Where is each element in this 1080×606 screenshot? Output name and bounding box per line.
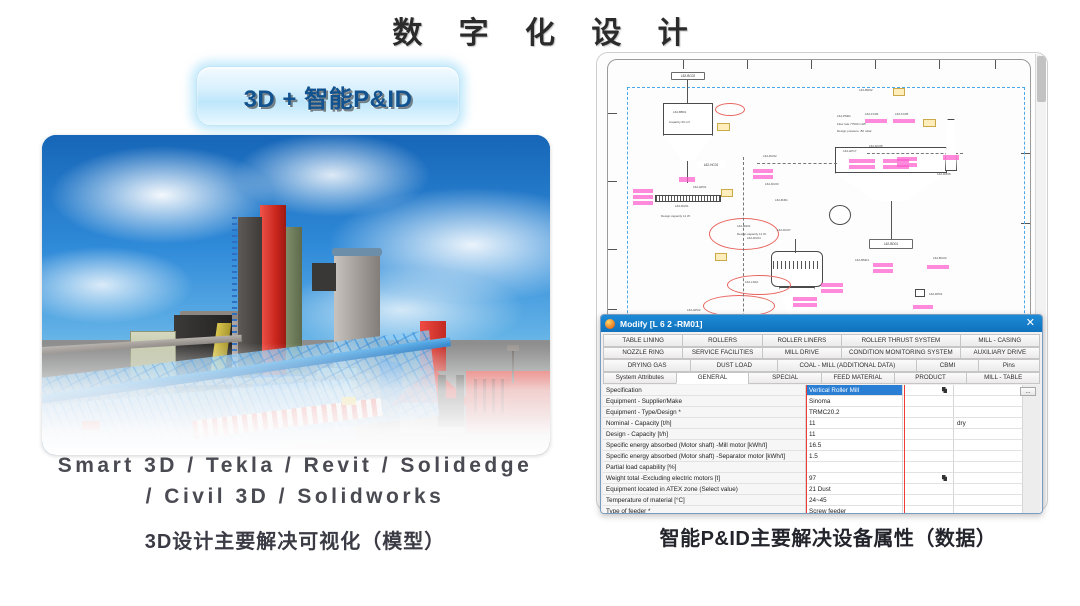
grid-cell-d[interactable]	[954, 429, 1023, 440]
pid-scrollbar-thumb[interactable]	[1037, 56, 1046, 102]
close-icon[interactable]: ✕	[1023, 318, 1038, 329]
tab-system-attributes[interactable]: System Attributes	[603, 372, 676, 385]
grid-tick-left-3	[608, 249, 617, 250]
note-flag-4[interactable]	[893, 88, 905, 96]
tab-nozzle-ring[interactable]: NOZZLE RING	[603, 347, 682, 360]
grid-tick-top-5	[939, 60, 940, 69]
grid-column-d[interactable]: dry	[954, 385, 1023, 514]
attribute-grid[interactable]: Specification Equipment - Supplier/Make …	[603, 385, 1040, 514]
grid-tick-left-2	[608, 181, 617, 182]
tab-service-facilities[interactable]: SERVICE FACILITIES	[682, 347, 761, 360]
microtext-bb01: L62-BB01	[673, 111, 686, 115]
line-sep-down	[891, 201, 892, 239]
attribute-value[interactable]: TRMC20.2	[806, 407, 903, 418]
link-icon	[942, 387, 947, 393]
tab-auxiliary-drive[interactable]: AUXILIARY DRIVE	[960, 347, 1040, 360]
link-icon	[942, 475, 947, 481]
tab-row-3: DRYING GAS DUST LOAD COAL - MILL (ADDITI…	[603, 359, 1040, 372]
tab-mill-drive[interactable]: MILL DRIVE	[762, 347, 841, 360]
grid-cell-c[interactable]	[903, 429, 954, 440]
pid-tagblock-11	[753, 169, 773, 173]
app-logo-icon	[605, 319, 615, 329]
attribute-value[interactable]: 24~45	[806, 495, 903, 506]
grid-column-e	[1023, 385, 1040, 514]
note-flag-2[interactable]	[721, 189, 733, 197]
grid-cell-d[interactable]	[954, 462, 1023, 473]
grid-cell-c[interactable]	[903, 418, 954, 429]
tab-pins[interactable]: Pins	[978, 359, 1040, 372]
tab-product[interactable]: PRODUCT	[894, 372, 967, 385]
tab-roller-thrust-system[interactable]: ROLLER THRUST SYSTEM	[841, 334, 960, 347]
tab-mill-casing[interactable]: MILL - CASING	[960, 334, 1040, 347]
badge-label: 3D + 智能P&ID	[244, 79, 413, 114]
badge-3d-smart-pid: 3D + 智能P&ID	[196, 66, 460, 126]
microtext-pm01-data2: Design pressure -80 mbar	[837, 130, 872, 134]
software-list-line-1: Smart 3D / Tekla / Revit / Solidedge	[0, 450, 590, 481]
microtext-hp01: L62-HP01	[693, 186, 707, 190]
tab-feed-material[interactable]: FEED MATERIAL	[821, 372, 894, 385]
tab-general[interactable]: GENERAL	[676, 372, 749, 385]
tab-special[interactable]: SPECIAL	[748, 372, 821, 385]
pid-tagblock-23	[873, 263, 893, 267]
microtext-hp17: L62-HP17	[843, 150, 857, 154]
attribute-label: Equipment - Supplier/Make	[603, 396, 806, 407]
pid-tagblock-25	[927, 265, 949, 269]
microtext-du03: L62-DU03	[765, 183, 779, 187]
equipment-fan-pm01	[829, 205, 851, 225]
tab-rows: TABLE LINING ROLLERS ROLLER LINERS ROLLE…	[603, 334, 1040, 384]
pid-tagblock-1	[679, 177, 695, 182]
slide-root: 数 字 化 设 计 3D + 智能P&ID	[0, 0, 1080, 606]
microtext-bd02: L62-BD02	[859, 89, 873, 93]
pid-tagblock-3	[633, 195, 653, 199]
attribute-label: Temperature of material [°C]	[603, 495, 806, 506]
grid-cell-d[interactable]	[954, 473, 1023, 484]
attribute-value[interactable]: 11	[806, 429, 903, 440]
microtext-capacity: Design capacity 11 t/h	[661, 215, 690, 219]
microtext-bb01-desc: Capacity 60 m3	[669, 121, 690, 125]
mill-stack	[795, 239, 796, 253]
note-flag-3[interactable]	[715, 253, 727, 261]
microtext-du04: L62-DU04	[747, 237, 761, 241]
tab-table-lining[interactable]: TABLE LINING	[603, 334, 682, 347]
tag-l62-bc02[interactable]: L62-BC02	[671, 72, 705, 80]
tab-row-1: TABLE LINING ROLLERS ROLLER LINERS ROLLE…	[603, 334, 1040, 347]
pid-tagblock-14	[793, 303, 817, 307]
grid-cell-d[interactable]	[954, 396, 1023, 407]
grid-cell-d[interactable]	[954, 484, 1023, 495]
pid-tagblock-10	[893, 119, 915, 123]
pid-tagblock-26	[913, 305, 933, 309]
attribute-value[interactable]: Screw feeder	[806, 506, 903, 514]
dialog-body: TABLE LINING ROLLERS ROLLER LINERS ROLLE…	[601, 332, 1042, 514]
grid-column-labels: Specification Equipment - Supplier/Make …	[603, 385, 806, 514]
grid-cell-c[interactable]	[903, 385, 954, 396]
pid-tagblock-4	[633, 201, 653, 205]
pid-tagblock-2	[633, 189, 653, 193]
grid-cell-c[interactable]	[903, 451, 954, 462]
pid-tagblock-22	[943, 155, 959, 160]
grid-cell-c[interactable]	[903, 407, 954, 418]
attribute-label: Equipment - Type/Design *	[603, 407, 806, 418]
grid-tick-top-2	[747, 60, 748, 69]
silo-right-cap	[332, 248, 382, 256]
microtext-du07: L62-DU07	[777, 229, 791, 233]
attribute-value[interactable]: Sinoma	[806, 396, 903, 407]
revision-cloud-1	[715, 103, 745, 116]
microtext-fc06: L62-FC06	[865, 113, 878, 117]
attribute-label: Weight total -Excluding electric motors …	[603, 473, 806, 484]
microtext-du05: L62-DU05	[869, 145, 883, 149]
grid-cell-c[interactable]	[903, 484, 954, 495]
grid-tick-top-1	[683, 60, 684, 69]
silo-right-port	[312, 263, 336, 291]
pid-tagblock-16	[821, 289, 843, 293]
attribute-label: Specific energy absorbed (Motor shaft) -…	[603, 451, 806, 462]
grid-tick-top-3	[811, 60, 812, 69]
grid-cell-d[interactable]	[954, 451, 1023, 462]
pid-tagblock-21	[897, 163, 917, 167]
tab-roller-liners[interactable]: ROLLER LINERS	[762, 334, 841, 347]
attribute-label: Equipment located in ATEX zone (Select v…	[603, 484, 806, 495]
tab-condition-monitoring-system[interactable]: CONDITION MONITORING SYSTEM	[841, 347, 960, 360]
dialog-title-bar: Modify [L 6 2 -RM01] ✕	[601, 315, 1042, 332]
revision-cloud-4	[727, 275, 791, 295]
software-list-line-2: / Civil 3D / Solidworks	[0, 481, 590, 512]
software-list: Smart 3D / Tekla / Revit / Solidedge / C…	[0, 450, 590, 512]
attribute-label: Type of feeder *	[603, 506, 806, 514]
tab-row-4: System Attributes GENERAL SPECIAL FEED M…	[603, 372, 1040, 385]
grid-cell-c[interactable]	[903, 506, 954, 514]
grid-cell-c[interactable]	[903, 440, 954, 451]
equipment-valve-right	[915, 289, 925, 297]
grid-cell-d[interactable]	[954, 495, 1023, 506]
pid-tagblock-15	[821, 283, 843, 287]
tab-drying-gas[interactable]: DRYING GAS	[603, 359, 690, 372]
tab-rollers[interactable]: ROLLERS	[682, 334, 761, 347]
pid-tagblock-13	[793, 297, 817, 301]
grid-cell-c[interactable]	[903, 495, 954, 506]
pid-tagblock-7	[849, 165, 875, 169]
attribute-value[interactable]: 11	[806, 418, 903, 429]
attribute-value[interactable]: 1.5	[806, 451, 903, 462]
attribute-label: Specification	[603, 385, 806, 396]
plant-3d-render	[42, 135, 550, 455]
grid-cell-c[interactable]	[903, 462, 954, 473]
microtext-ls02: L62-LS02	[745, 281, 758, 285]
left-panel: 3D + 智能P&ID	[0, 55, 590, 606]
note-flag-5[interactable]	[923, 119, 936, 127]
attribute-value[interactable]	[806, 462, 903, 473]
tab-cbmi[interactable]: CBMI	[916, 359, 977, 372]
ellipsis-button[interactable]: ...	[1020, 387, 1036, 396]
pid-tagblock-9	[865, 119, 887, 123]
microtext-rm01: L62-RM01	[855, 259, 869, 263]
attribute-value[interactable]: 21 Dust	[806, 484, 903, 495]
microtext-pm01-data: Flow rate 77000 m3/h	[837, 123, 866, 127]
grid-cell-d[interactable]	[954, 407, 1023, 418]
page-title: 数 字 化 设 计	[0, 8, 1080, 52]
attribute-value-selected[interactable]: Vertical Roller Mill	[806, 385, 903, 396]
dialog-title: Modify [L 6 2 -RM01]	[620, 319, 1023, 329]
grid-cell-c[interactable]	[903, 396, 954, 407]
modify-dialog[interactable]: Modify [L 6 2 -RM01] ✕ TABLE LINING ROLL…	[600, 314, 1043, 514]
right-panel: L62-BC02 L62-BB01 Capacity 60 m3 L62-HC0…	[592, 52, 1068, 606]
pid-tagblock-24	[873, 269, 893, 273]
tab-coal-mill-additional-data[interactable]: COAL - MILL (ADDITIONAL DATA)	[777, 359, 916, 372]
tag-l62-hc01[interactable]: L62-HC01	[697, 161, 725, 168]
attribute-label: Nominal - Capacity [t/h]	[603, 418, 806, 429]
microtext-bc03: L62-BC03	[933, 257, 947, 261]
microtext-stack: L62-DU06	[937, 173, 951, 177]
microtext-hp02: L62-HP02	[687, 309, 701, 313]
grid-cell-c[interactable]	[903, 473, 954, 484]
grid-cell-d[interactable]	[954, 440, 1023, 451]
line-bc02-to-bb01	[687, 80, 688, 103]
equipment-mill-table	[773, 261, 821, 269]
grid-tick-left-1	[608, 113, 617, 114]
grid-tick-left-4	[608, 309, 617, 310]
tab-mill-table[interactable]: MILL - TABLE	[966, 372, 1040, 385]
microtext-bj01: L62-BJ01	[775, 199, 788, 203]
image-fade-overlay	[42, 343, 550, 455]
pid-tagblock-5	[849, 159, 875, 163]
duct-dashline-1	[757, 163, 837, 164]
tag-l62-bd01[interactable]: L62-BD01	[869, 239, 913, 249]
grid-column-c[interactable]	[903, 385, 954, 514]
grid-tick-top-6	[995, 60, 996, 69]
microtext-dp01: L62-DP01	[929, 293, 943, 297]
attribute-value[interactable]: 16.5	[806, 440, 903, 451]
right-caption: 智能P&ID主要解决设备属性（数据）	[588, 522, 1068, 551]
grid-cell-d[interactable]: dry	[954, 418, 1023, 429]
microtext-pm01: L62-PM01	[837, 115, 851, 119]
pid-tagblock-12	[753, 175, 773, 179]
grid-cell-d[interactable]	[954, 506, 1023, 514]
microtext-du02: L62-DU02	[763, 155, 777, 159]
attribute-label: Design - Capacity [t/h]	[603, 429, 806, 440]
grid-tick-top-4	[875, 60, 876, 69]
attribute-label: Specific energy absorbed (Motor shaft) -…	[603, 440, 806, 451]
attribute-value[interactable]: 97	[806, 473, 903, 484]
microtext-du01: L62-DU01	[675, 205, 689, 209]
left-caption: 3D设计主要解决可视化（模型）	[0, 525, 590, 554]
equipment-bin-bb01	[663, 103, 713, 135]
tab-row-2: NOZZLE RING SERVICE FACILITIES MILL DRIV…	[603, 347, 1040, 360]
tab-dust-load[interactable]: DUST LOAD	[690, 359, 777, 372]
attribute-label: Partial load capability [%]	[603, 462, 806, 473]
grid-column-values[interactable]: Vertical Roller Mill Sinoma TRMC20.2 11 …	[806, 385, 903, 514]
equipment-feeder-hp01	[655, 195, 721, 202]
microtext-fc05: L62-FC05	[895, 113, 908, 117]
note-flag-1[interactable]	[717, 123, 730, 131]
grid-cell-d[interactable]	[954, 385, 1023, 396]
pid-tagblock-20	[897, 157, 917, 161]
